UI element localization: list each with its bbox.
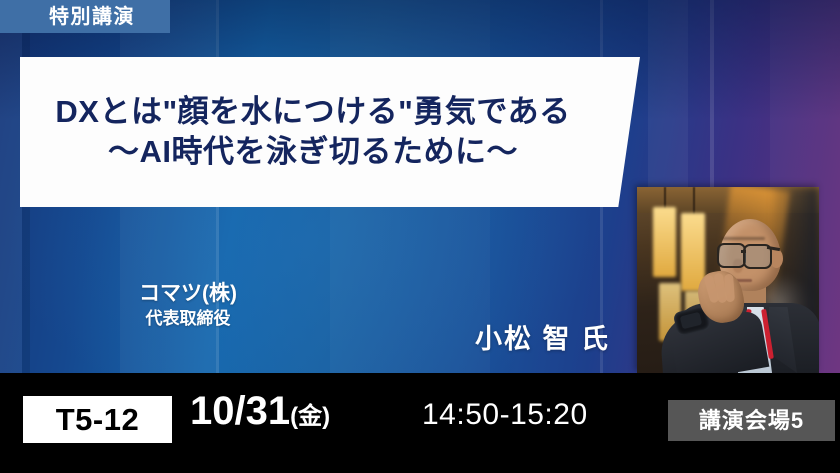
speaker-photo-background [637,187,819,373]
session-title-inner: DXとは"顔を水につける"勇気である 〜AI時代を泳ぎ切るために〜 [20,57,606,207]
photo-person-glasses [717,243,746,268]
photo-person-glasses-bridge [741,250,746,253]
speaker-position: 代表取締役 [108,307,268,331]
speaker-affiliation-block: コマツ(株) 代表取締役 [108,281,268,331]
session-date-value: 10/31 [190,389,290,433]
session-room-label: 講演会場5 [699,410,804,432]
speaker-organization: コマツ(株) [108,281,268,307]
photo-lamp-cord [693,187,695,215]
speaker-photo [637,187,819,373]
photo-lamp-cord [664,187,666,209]
photo-pendant-lamp [653,207,676,277]
session-title-line-1: DXとは"顔を水につける"勇気である [55,92,570,132]
speaker-name: 小松 智 氏 [475,317,610,356]
session-time: 14:50-15:20 [422,400,588,430]
session-code-box: T5-12 [23,396,172,443]
session-room-badge: 講演会場5 [668,400,835,441]
session-day-of-week: (金) [290,403,330,430]
session-category-badge: 特別講演 [0,0,170,33]
photo-person-finger [724,274,735,303]
session-slide: 特別講演 DXとは"顔を水につける"勇気である 〜AI時代を泳ぎ切るために〜 コ… [0,0,840,473]
session-date: 10/31(金) [190,391,330,431]
photo-person-brow [721,237,765,240]
session-code: T5-12 [56,404,139,435]
session-title-card: DXとは"顔を水につける"勇気である 〜AI時代を泳ぎ切るために〜 [20,57,640,207]
session-category-label: 特別講演 [49,7,135,27]
session-title-line-2: 〜AI時代を泳ぎ切るために〜 [108,132,518,172]
